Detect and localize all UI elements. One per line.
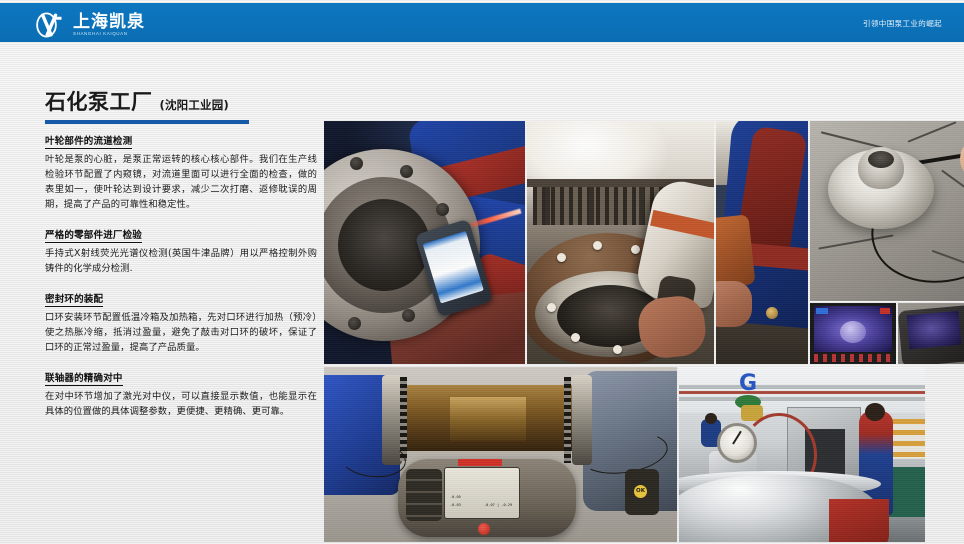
title-subtitle: (沈阳工业园) [160,97,229,113]
wall-letter-g: G [739,371,757,396]
page-title: 石化泵工厂 (沈阳工业园) [45,86,310,124]
alignment-value-v: -0.05 [450,495,461,499]
section-incoming-parts-inspection: 严格的零部件进厂检验 手持式X射线荧光光谱仪检测(英国牛津品牌）用以严格控制外购… [45,223,317,276]
photo-borescope-impeller [810,121,964,301]
section-seal-ring-assembly: 密封环的装配 口环安装环节配置低温冷箱及加热箱，先对口环进行加热（预冷）使之热胀… [45,287,317,355]
photo-borescope-monitor [810,303,896,364]
ok-button-label: OK [634,485,647,498]
section-heading: 密封环的装配 [45,291,103,307]
section-heading: 严格的零部件进厂检验 [45,227,142,243]
photo-laser-alignment: OK -0.05 -0.03 -0.07 | -0.29 [324,367,677,542]
section-heading: 联轴器的精确对中 [45,370,123,386]
title-main: 石化泵工厂 [45,86,153,116]
kaiquan-logo-icon [36,12,66,38]
title-underline [45,120,249,124]
brand-text: 上海凯泉 SHANGHAI KAIQUAN [73,13,145,37]
alignment-value-pair: -0.07 | -0.29 [484,503,512,507]
photo-borescope-device: 2015/09/0 [898,303,964,364]
brand-name-cn: 上海凯泉 [73,14,145,31]
brand-name-en: SHANGHAI KAIQUAN [73,31,145,37]
power-button-icon [478,523,490,535]
section-body: 口环安装环节配置低温冷箱及加热箱，先对口环进行加热（预冷）使之热胀冷缩，抵消过盈… [45,310,317,355]
slide-content: 石化泵工厂 (沈阳工业园) 叶轮部件的流道检测 叶轮是泵的心脏，是泵正常运转的核… [0,42,964,544]
section-body: 手持式X射线荧光光谱仪检测(英国牛津品牌）用以严格控制外购铸件的化学成分检测. [45,246,317,276]
photo-workshop-cryo-tank: G [679,367,925,542]
photo-mosaic: 2015/09/0 [324,121,925,542]
section-body: 在对中环节增加了激光对中仪，可以直接显示数值，也能显示在具体的位置做的具体调整参… [45,389,317,419]
header-tagline: 引领中国泵工业的崛起 [863,18,942,29]
section-body: 叶轮是泵的心脏，是泵正常运转的核心核心部件。我们在生产线检验环节配置了内窥镜，对… [45,152,317,212]
photo-flange-inspection [324,121,525,364]
brand-logo[interactable]: 上海凯泉 SHANGHAI KAIQUAN [36,11,145,39]
photo-xrf-gun-casing [527,121,714,364]
photo-worker-xrf [716,121,808,364]
section-coupling-alignment: 联轴器的精确对中 在对中环节增加了激光对中仪，可以直接显示数值，也能显示在具体的… [45,366,317,419]
header-bar: 上海凯泉 SHANGHAI KAIQUAN 引领中国泵工业的崛起 [0,3,964,42]
section-impeller-flow-inspection: 叶轮部件的流道检测 叶轮是泵的心脏，是泵正常运转的核心核心部件。我们在生产线检验… [45,129,317,212]
slide-canvas: 上海凯泉 SHANGHAI KAIQUAN 引领中国泵工业的崛起 石化泵工厂 (… [0,0,964,544]
text-sections: 叶轮部件的流道检测 叶轮是泵的心脏，是泵正常运转的核心核心部件。我们在生产线检验… [45,129,317,431]
section-heading: 叶轮部件的流道检测 [45,133,132,149]
alignment-value-h: -0.03 [450,503,461,507]
